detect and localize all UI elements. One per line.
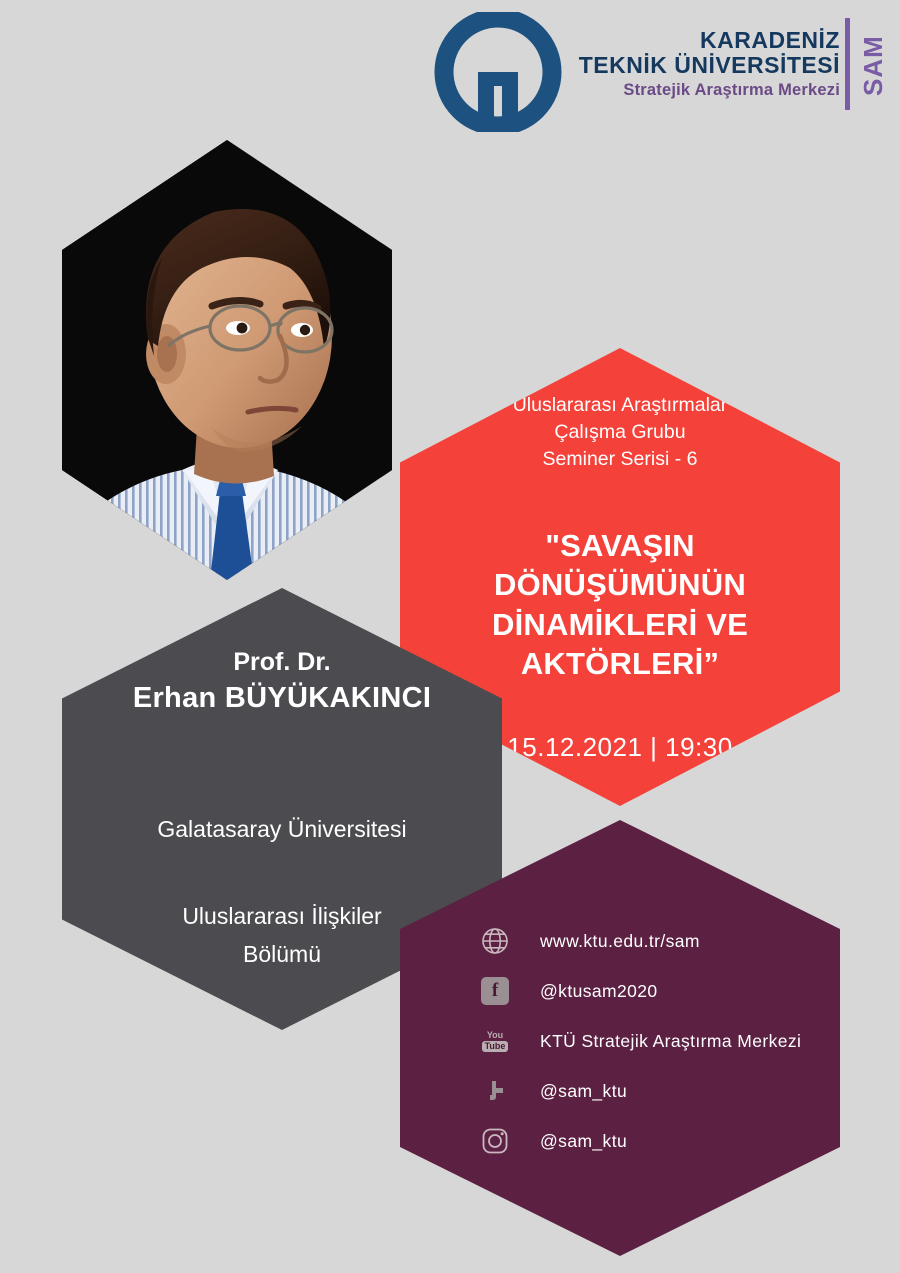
social-links-list: www.ktu.edu.tr/sam f @ktusam2020 You Tub… [478, 916, 828, 1166]
university-title-block: KARADENİZ TEKNİK ÜNİVERSİTESİ Stratejik … [560, 28, 840, 100]
speaker-university: Galatasaray Üniversitesi [62, 816, 502, 843]
speaker-photo [62, 140, 392, 580]
poster-header: KARADENİZ TEKNİK ÜNİVERSİTESİ Stratejik … [0, 0, 900, 140]
series-line-3: Seminer Serisi - 6 [400, 446, 840, 473]
contact-item-facebook[interactable]: f @ktusam2020 [478, 966, 828, 1016]
seminar-series-subtitle: Uluslararası Araştırmalar Çalışma Grubu … [400, 392, 840, 473]
event-title: "SAVAŞIN DÖNÜŞÜMÜNÜN DİNAMİKLERİ VE AKTÖ… [418, 526, 822, 683]
title-line-2: DÖNÜŞÜMÜNÜN [418, 565, 822, 604]
contact-item-website[interactable]: www.ktu.edu.tr/sam [478, 916, 828, 966]
seminar-poster: KARADENİZ TEKNİK ÜNİVERSİTESİ Stratejik … [0, 0, 900, 1273]
sam-label: SAM [843, 36, 900, 96]
contact-label-website: www.ktu.edu.tr/sam [540, 931, 700, 952]
contact-label-twitter: @sam_ktu [540, 1081, 627, 1102]
speaker-portrait-image [62, 140, 392, 580]
title-line-4: AKTÖRLERİ” [418, 644, 822, 683]
contact-label-facebook: @ktusam2020 [540, 981, 658, 1002]
series-line-2: Çalışma Grubu [400, 419, 840, 446]
globe-icon [478, 924, 512, 958]
university-name-line2: TEKNİK ÜNİVERSİTESİ [560, 53, 840, 78]
youtube-icon: You Tube [478, 1024, 512, 1058]
title-line-3: DİNAMİKLERİ VE [418, 605, 822, 644]
instagram-icon [478, 1124, 512, 1158]
ktu-logo-icon [432, 12, 572, 132]
contact-item-youtube[interactable]: You Tube KTÜ Stratejik Araştırma Merkezi [478, 1016, 828, 1066]
contact-item-twitter[interactable]: @sam_ktu [478, 1066, 828, 1116]
twitter-icon [478, 1074, 512, 1108]
series-line-1: Uluslararası Araştırmalar [400, 392, 840, 419]
contact-label-instagram: @sam_ktu [540, 1131, 627, 1152]
university-name-line1: KARADENİZ [560, 28, 840, 53]
title-line-1: "SAVAŞIN [418, 526, 822, 565]
contact-item-instagram[interactable]: @sam_ktu [478, 1116, 828, 1166]
contact-label-youtube: KTÜ Stratejik Araştırma Merkezi [540, 1031, 801, 1052]
speaker-name: Erhan BÜYÜKAKINCI [62, 682, 502, 715]
research-center-name: Stratejik Araştırma Merkezi [560, 81, 840, 100]
facebook-icon: f [478, 974, 512, 1008]
